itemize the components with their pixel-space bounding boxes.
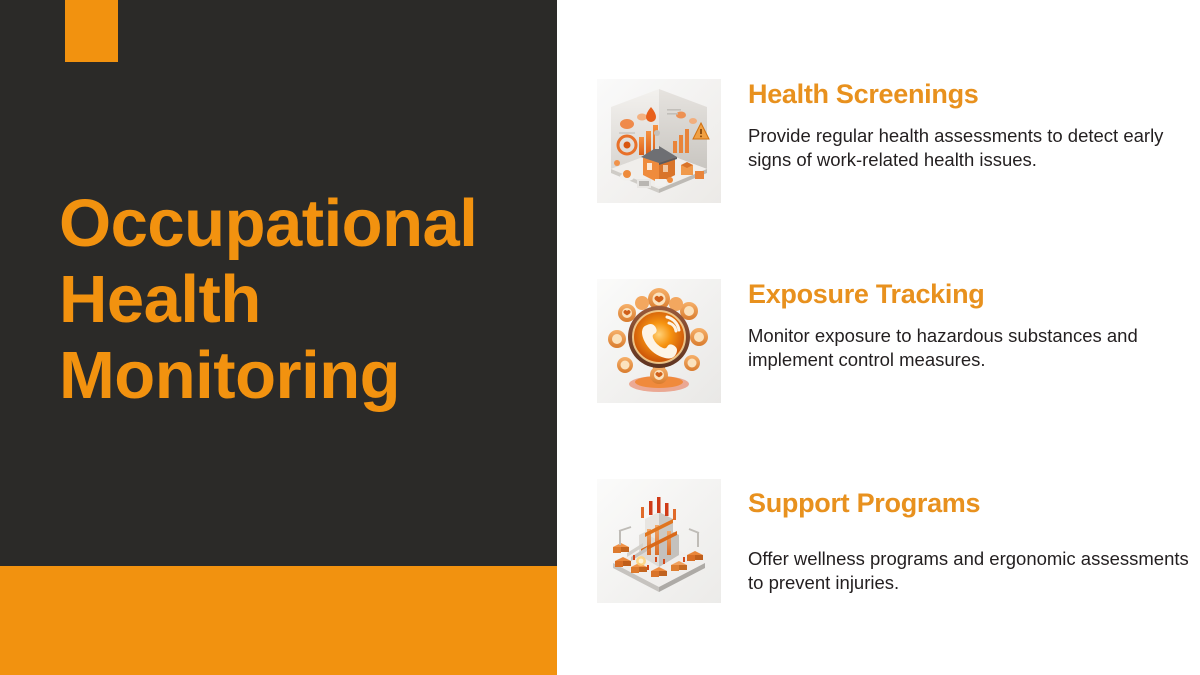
card-body-2: Monitor exposure to hazardous substances… bbox=[748, 324, 1193, 372]
card-body-1: Provide regular health assessments to de… bbox=[748, 124, 1193, 172]
slide-canvas: Occupational Health Monitoring bbox=[0, 0, 1200, 675]
accent-block-top-left bbox=[65, 0, 118, 62]
isometric-industrial-site-icon bbox=[597, 479, 721, 603]
isometric-health-screening-room-icon bbox=[597, 79, 721, 203]
card-thumbnail-image-3 bbox=[597, 479, 721, 603]
card-title-2: Exposure Tracking bbox=[748, 278, 1193, 310]
card-thumbnail-image-2 bbox=[597, 279, 721, 403]
glowing-orange-signal-badge-icon bbox=[597, 279, 721, 403]
card-text-block-2: Exposure Tracking Monitor exposure to ha… bbox=[748, 278, 1193, 372]
card-text-block-3: Support Programs Offer wellness programs… bbox=[748, 487, 1193, 595]
card-text-block-1: Health Screenings Provide regular health… bbox=[748, 78, 1193, 172]
right-content-panel: Health Screenings Provide regular health… bbox=[557, 0, 1200, 675]
card-title-3: Support Programs bbox=[748, 487, 1193, 519]
bottom-orange-bar bbox=[0, 566, 557, 675]
card-title-1: Health Screenings bbox=[748, 78, 1193, 110]
card-thumbnail-image-1 bbox=[597, 79, 721, 203]
left-dark-panel: Occupational Health Monitoring bbox=[0, 0, 557, 566]
slide-title: Occupational Health Monitoring bbox=[59, 186, 529, 414]
card-body-3: Offer wellness programs and ergonomic as… bbox=[748, 547, 1193, 595]
